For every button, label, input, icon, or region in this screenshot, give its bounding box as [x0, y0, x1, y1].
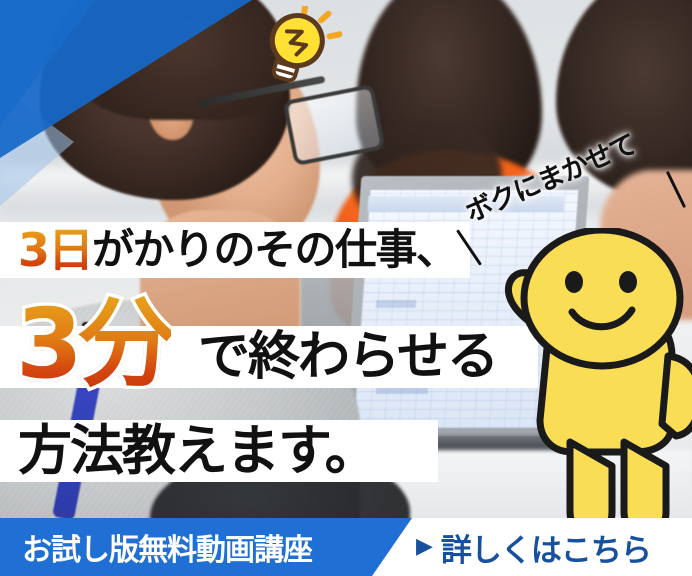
- yellow-mascot-character: [486, 228, 692, 540]
- headline-line3-text: 方法教えます。: [18, 424, 377, 478]
- cta-bar[interactable]: お試し版無料動画講座 ▶ 詳しくはこちら: [0, 518, 692, 576]
- headline-line2-highlight: 3分: [16, 296, 171, 392]
- cta-badge[interactable]: お試し版無料動画講座: [0, 518, 412, 576]
- headline-line1-highlight: 3日: [18, 227, 92, 273]
- cta-badge-label: お試し版無料動画講座: [22, 525, 312, 569]
- headline-band-1: 3日 がかりのその仕事、: [0, 222, 470, 278]
- photo-screen-cell: [376, 300, 417, 308]
- mascot-eye-left: [565, 271, 583, 293]
- mascot-eye-right: [619, 271, 637, 293]
- lightbulb-icon: [258, 6, 344, 88]
- headline-line1-rest: がかりのその仕事、: [92, 229, 457, 271]
- headline-line2-rest: で終わらせる: [198, 331, 497, 383]
- cta-link[interactable]: ▶ 詳しくはこちら: [412, 518, 692, 576]
- cta-link-label: 詳しくはこちら: [441, 525, 651, 570]
- headline-band-3: 方法教えます。: [0, 420, 438, 482]
- play-arrow-icon: ▶: [416, 536, 433, 558]
- photo-man-hair-front: [78, 0, 288, 120]
- promo-banner: 3日 がかりのその仕事、 3分 で終わらせる 3分 方法教えます。 ボクにまかせ…: [0, 0, 692, 576]
